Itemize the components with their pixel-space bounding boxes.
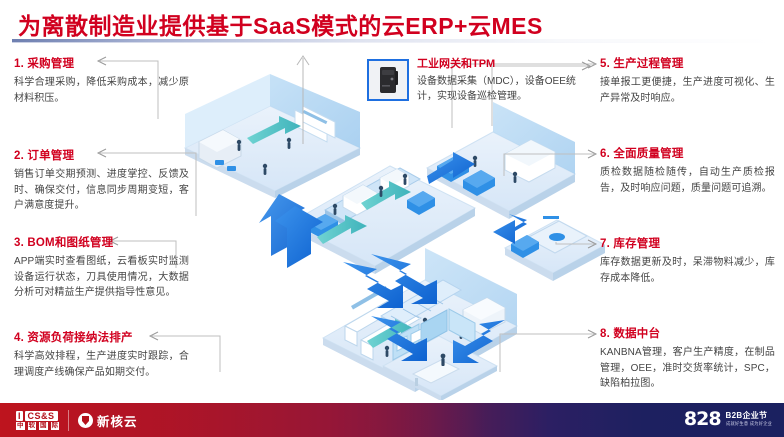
title-underline-fade bbox=[12, 42, 772, 43]
page-title: 为离散制造业提供基于SaaS模式的云ERP+云MES bbox=[18, 7, 543, 41]
event-text-group: B2B企业节 成就好生意 成为好企业 bbox=[726, 411, 774, 427]
feature-heading-scheduling: 4. 资源负荷接纳法排产 bbox=[14, 331, 189, 346]
feature-body-quality: 质检数据随检随传，自动生产质检报告，及时响应问题，质量问题可追溯。 bbox=[600, 165, 775, 196]
logo-css-sub: 中 软 国 际 bbox=[16, 422, 59, 430]
logo-css-sub-1: 中 bbox=[16, 422, 25, 430]
feature-block-order: 2. 订单管理 销售订单交期预测、进度掌控、反馈及时、确保交付，信息同步周期变短… bbox=[14, 149, 189, 214]
zone-procurement bbox=[185, 74, 360, 198]
event-tagline: 成就好生意 成为好企业 bbox=[726, 421, 772, 427]
feature-body-inventory: 库存数据更新及时，呆滞物料减少，库存成本降低。 bbox=[600, 255, 775, 286]
feature-heading-data-platform: 8. 数据中台 bbox=[600, 327, 775, 342]
feature-heading-inventory: 7. 库存管理 bbox=[600, 237, 775, 252]
logo-css-mark: I bbox=[16, 411, 23, 421]
footer-bar: I CS&S 中 软 国 际 新核云 828 B2B企业节 成就好生意 成为 bbox=[0, 403, 784, 437]
feature-body-production-process: 接单报工更便捷，生产进度可视化、生产异常及时响应。 bbox=[600, 75, 775, 106]
logo-css-word: CS&S bbox=[25, 411, 58, 421]
feature-body-scheduling: 科学高效排程，生产进度实时跟踪，合理调度产线确保产品如期交付。 bbox=[14, 349, 189, 380]
feature-heading-production-process: 5. 生产过程管理 bbox=[600, 57, 775, 72]
feature-block-inventory: 7. 库存管理 库存数据更新及时，呆滞物料减少，库存成本降低。 bbox=[600, 237, 775, 286]
logo-xinheyun: 新核云 bbox=[78, 411, 138, 430]
feature-body-order: 销售订单交期预测、进度掌控、反馈及时、确保交付，信息同步周期变短，客户满意度提升… bbox=[14, 167, 189, 214]
slide-header: 为离散制造业提供基于SaaS模式的云ERP+云MES bbox=[0, 0, 784, 45]
logo-css-sub-4: 际 bbox=[51, 422, 60, 430]
gateway-callout-text: 工业网关和TPM 设备数据采集（MDC），设备OEE统计，实现设备巡检管理。 bbox=[417, 57, 592, 104]
feature-body-purchasing: 科学合理采购，降低采购成本，减少原材料积压。 bbox=[14, 75, 189, 106]
feature-heading-order: 2. 订单管理 bbox=[14, 149, 189, 164]
feature-heading-purchasing: 1. 采购管理 bbox=[14, 57, 189, 72]
feature-block-purchasing: 1. 采购管理 科学合理采购，降低采购成本，减少原材料积压。 bbox=[14, 57, 189, 106]
logo-css-sub-3: 国 bbox=[39, 422, 48, 430]
feature-body-bom: APP端实时查看图纸，云看板实时监测设备运行状态，刀具使用情况，大数据分析可对精… bbox=[14, 254, 189, 301]
event-title: B2B企业节 bbox=[726, 411, 774, 420]
feature-heading-bom: 3. BOM和图纸管理 bbox=[14, 236, 189, 251]
feature-block-data-platform: 8. 数据中台 KANBNA管理，客户生产精度，在制品管理，OEE，准时交货率统… bbox=[600, 327, 775, 392]
gateway-body: 设备数据采集（MDC），设备OEE统计，实现设备巡检管理。 bbox=[417, 74, 592, 104]
feature-block-scheduling: 4. 资源负荷接纳法排产 科学高效排程，生产进度实时跟踪，合理调度产线确保产品如… bbox=[14, 331, 189, 380]
xinheyun-shield-icon bbox=[78, 413, 93, 428]
gateway-device-image bbox=[367, 59, 409, 101]
footer-event-logo: 828 B2B企业节 成就好生意 成为好企业 bbox=[684, 409, 774, 429]
footer-logos: I CS&S 中 软 国 际 新核云 bbox=[16, 410, 138, 431]
slide-root: 为离散制造业提供基于SaaS模式的云ERP+云MES bbox=[0, 0, 784, 437]
event-number: 828 bbox=[684, 409, 721, 429]
gateway-heading: 工业网关和TPM bbox=[417, 57, 592, 71]
logo-css-sub-2: 软 bbox=[28, 422, 37, 430]
feature-block-bom: 3. BOM和图纸管理 APP端实时查看图纸，云看板实时监测设备运行状态，刀具使… bbox=[14, 236, 189, 301]
feature-block-production-process: 5. 生产过程管理 接单报工更便捷，生产进度可视化、生产异常及时响应。 bbox=[600, 57, 775, 106]
feature-heading-quality: 6. 全面质量管理 bbox=[600, 147, 775, 162]
logo-divider bbox=[68, 410, 69, 431]
logo-css: I CS&S 中 软 国 际 bbox=[16, 411, 59, 430]
feature-block-quality: 6. 全面质量管理 质检数据随检随传，自动生产质检报告，及时响应问题，质量问题可… bbox=[600, 147, 775, 196]
feature-body-data-platform: KANBNA管理，客户生产精度，在制品管理，OEE，准时交货率统计，SPC，缺陷… bbox=[600, 345, 775, 392]
xinheyun-label: 新核云 bbox=[97, 411, 138, 430]
